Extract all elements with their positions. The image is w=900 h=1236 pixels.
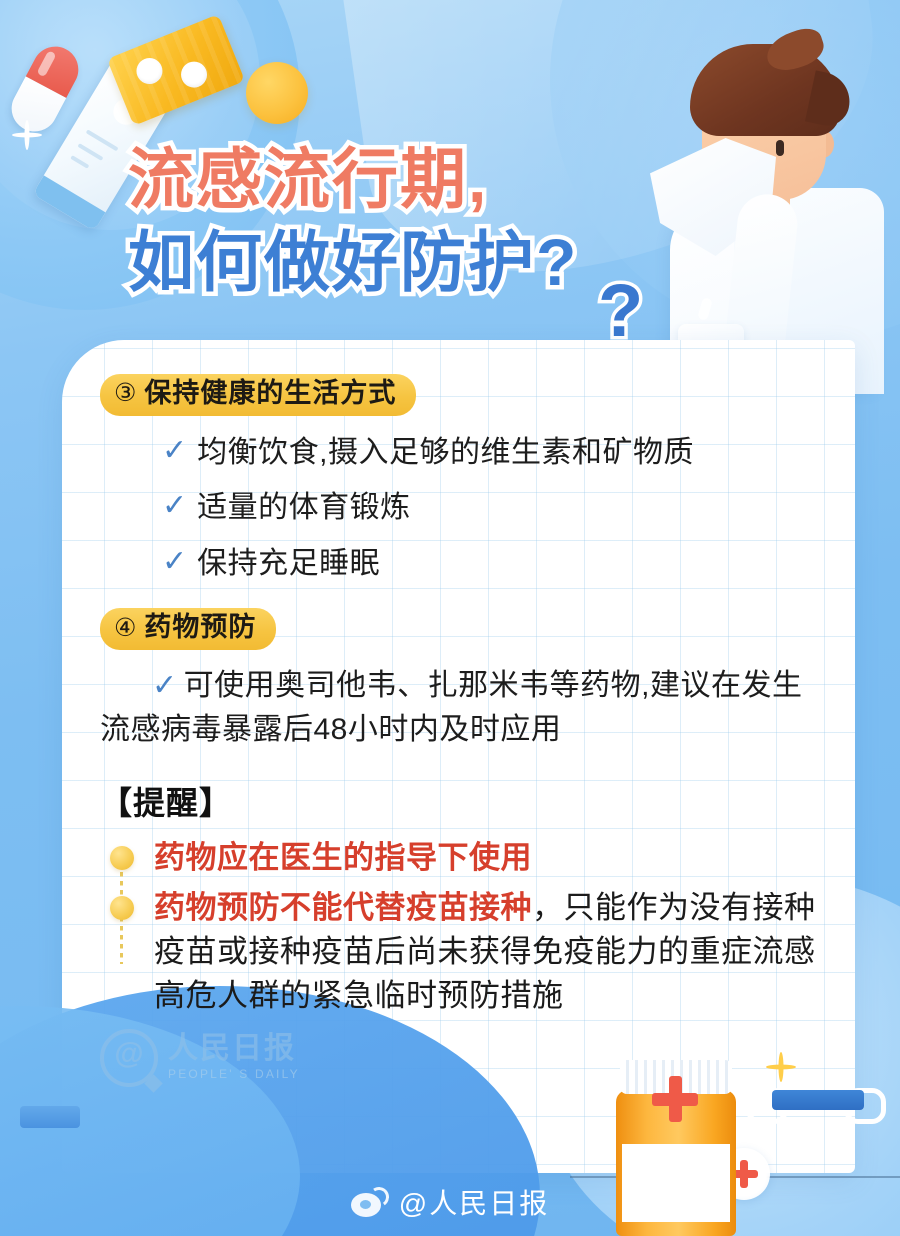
logo-name-en: PEOPLE' S DAILY xyxy=(168,1065,300,1083)
bullet-dot-icon xyxy=(110,896,134,920)
reminder-item: 药物应在医生的指导下使用 xyxy=(100,836,817,880)
check-icon: ✓ xyxy=(162,435,187,467)
watermark-handle: @人民日报 xyxy=(399,1182,549,1222)
section-number-3: ③ xyxy=(114,381,136,406)
check-icon: ✓ xyxy=(162,490,187,522)
weibo-icon xyxy=(351,1187,387,1217)
poster-canvas: ? 流感流行期, 如何做好防护? ③ 保持健康的生活方式 ✓ 均衡饮食,摄入足够… xyxy=(0,0,900,1236)
check-icon: ✓ xyxy=(162,546,187,578)
reminder-item-highlight: 药物应在医生的指导下使用 xyxy=(154,840,532,875)
section-title-3: 保持健康的生活方式 xyxy=(144,379,396,409)
peoples-daily-logo: @ 人民日报 PEOPLE' S DAILY xyxy=(100,1029,300,1087)
list-item-label: 均衡饮食,摄入足够的维生素和矿物质 xyxy=(197,435,694,472)
check-icon: ✓ xyxy=(152,669,178,702)
pill-blister-pack-icon xyxy=(107,14,245,126)
list-item: ✓ 均衡饮食,摄入足够的维生素和矿物质 xyxy=(162,435,817,472)
section-heading-3: ③ 保持健康的生活方式 xyxy=(100,374,416,416)
list-item-label: 适量的体育锻炼 xyxy=(197,490,411,527)
list-item: ✓ 适量的体育锻炼 xyxy=(162,490,817,527)
list-item: ✓ 保持充足睡眠 xyxy=(162,546,817,583)
page-title: 流感流行期, 如何做好防护? xyxy=(128,138,578,304)
at-symbol-icon: @ xyxy=(100,1029,158,1087)
reminder-title: 【提醒】 xyxy=(100,778,817,824)
section-4-paragraph: ✓可使用奥司他韦、扎那米韦等药物,建议在发生流感病毒暴露后48小时内及时应用 xyxy=(100,664,817,752)
title-line-1: 流感流行期, xyxy=(128,138,578,221)
list-item-label: 保持充足睡眠 xyxy=(197,546,380,583)
orange-circle-decoration xyxy=(246,62,308,124)
section-title-4: 药物预防 xyxy=(144,613,256,643)
weibo-watermark: @人民日报 xyxy=(0,1182,900,1222)
reminder-item: 药物预防不能代替疫苗接种，只能作为没有接种疫苗或接种疫苗后尚未获得免疫能力的重症… xyxy=(100,886,817,1018)
section-4-paragraph-text: 可使用奥司他韦、扎那米韦等药物,建议在发生流感病毒暴露后48小时内及时应用 xyxy=(100,669,802,746)
reminder-item-highlight: 药物预防不能代替疫苗接种 xyxy=(154,890,532,925)
blue-tab-decoration xyxy=(20,1106,80,1128)
title-line-2: 如何做好防护? xyxy=(128,221,578,304)
logo-name-cn: 人民日报 xyxy=(168,1033,300,1065)
bullet-dot-icon xyxy=(110,846,134,870)
section-heading-4: ④ 药物预防 xyxy=(100,608,276,650)
section-number-4: ④ xyxy=(114,616,136,641)
content-card: ③ 保持健康的生活方式 ✓ 均衡饮食,摄入足够的维生素和矿物质 ✓ 适量的体育锻… xyxy=(62,340,855,1173)
sick-person-illustration xyxy=(626,18,898,370)
reminder-list: 药物应在医生的指导下使用 药物预防不能代替疫苗接种，只能作为没有接种疫苗或接种疫… xyxy=(100,836,817,1018)
face-mask-icon xyxy=(744,1086,888,1120)
